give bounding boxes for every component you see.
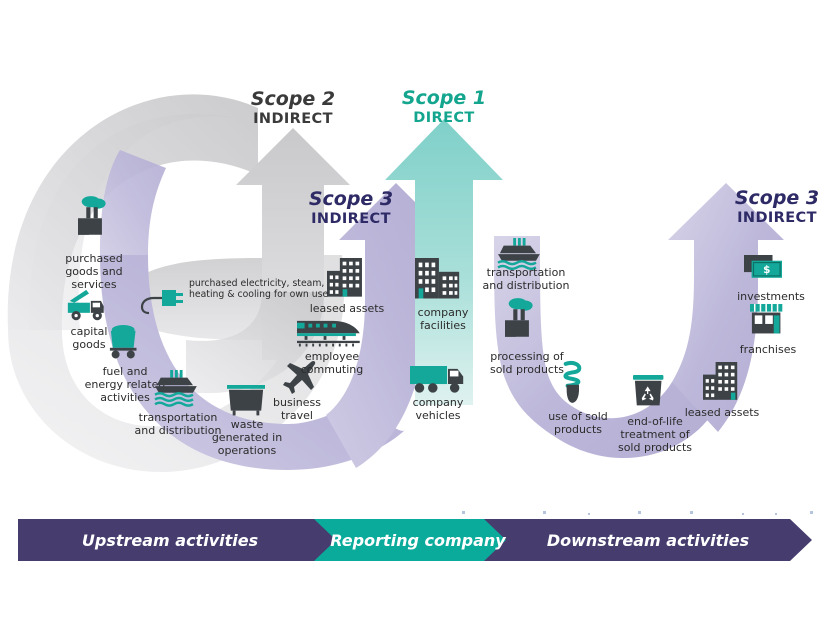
node-label: services bbox=[71, 278, 116, 291]
lightbulb-icon bbox=[565, 363, 579, 403]
node-label: company bbox=[413, 396, 464, 409]
node-label: processing of bbox=[490, 350, 565, 363]
value-chain-banner: Upstream activities Reporting company Do… bbox=[18, 519, 812, 561]
delivery-truck-icon bbox=[410, 366, 463, 393]
scope3-downstream-title-group: Scope 3 INDIRECT bbox=[735, 187, 819, 226]
node-label: purchased bbox=[65, 252, 122, 265]
node-label: business bbox=[273, 396, 321, 409]
node-label: leased assets bbox=[685, 406, 760, 419]
node-label: vehicles bbox=[416, 409, 461, 422]
node-label: fuel and bbox=[103, 365, 148, 378]
node-label: products bbox=[554, 423, 602, 436]
node-label: goods bbox=[72, 338, 105, 351]
node-label: generated in bbox=[212, 431, 282, 444]
node-label: transportation bbox=[487, 266, 566, 279]
node-label: purchased electricity, steam, bbox=[189, 278, 324, 289]
svg-text:$: $ bbox=[763, 264, 770, 276]
node-label: investments bbox=[737, 290, 805, 303]
scope3-upstream-subtitle: INDIRECT bbox=[311, 211, 391, 227]
scope3-downstream-subtitle: INDIRECT bbox=[737, 210, 817, 226]
scope1-title-group: Scope 1 DIRECT bbox=[402, 87, 486, 126]
node-label: transportation bbox=[139, 411, 218, 424]
node-label: employee bbox=[305, 350, 360, 363]
scope2-title-group: Scope 2 INDIRECT bbox=[251, 88, 335, 127]
scope1-title: Scope 1 bbox=[402, 87, 486, 109]
node-label: franchises bbox=[740, 343, 797, 356]
scope3-downstream-title: Scope 3 bbox=[735, 187, 819, 209]
banner-upstream-label: Upstream activities bbox=[82, 531, 258, 550]
recycle-bin-icon bbox=[633, 375, 663, 405]
dot-accents bbox=[462, 511, 813, 515]
node-label: heating & cooling for own use bbox=[189, 289, 329, 300]
node-label: treatment of bbox=[620, 428, 690, 441]
banner-downstream-label: Downstream activities bbox=[547, 531, 749, 550]
node-label: use of sold bbox=[548, 410, 608, 423]
node-label: travel bbox=[281, 409, 313, 422]
node-label: leased assets bbox=[310, 302, 385, 315]
node-label: and distribution bbox=[483, 279, 570, 292]
node-label: goods and bbox=[65, 265, 122, 278]
scope3-upstream-title: Scope 3 bbox=[309, 188, 393, 210]
scope2-subtitle: INDIRECT bbox=[253, 111, 333, 127]
node-label: operations bbox=[218, 444, 277, 457]
scope1-subtitle: DIRECT bbox=[413, 110, 474, 126]
node-label: capital bbox=[71, 325, 108, 338]
node-label: sold products bbox=[490, 363, 564, 376]
scope3-upstream-title-group: Scope 3 INDIRECT bbox=[309, 188, 393, 227]
node-label: facilities bbox=[420, 319, 466, 332]
train-icon bbox=[297, 321, 360, 347]
diagram-canvas: Scope 2 INDIRECT Scope 1 DIRECT Scope 3 … bbox=[0, 0, 826, 620]
storefront-icon bbox=[750, 304, 782, 333]
node-label: sold products bbox=[618, 441, 692, 454]
node-label: activities bbox=[100, 391, 150, 404]
banner-reporting-label: Reporting company bbox=[330, 531, 506, 550]
node-label: commuting bbox=[301, 363, 364, 376]
node-label: end-of-life bbox=[627, 415, 683, 428]
node-label: waste bbox=[231, 418, 264, 431]
scope2-title: Scope 2 bbox=[251, 88, 335, 110]
node-label: and distribution bbox=[135, 424, 222, 437]
node-label: energy related bbox=[85, 378, 166, 391]
ghg-scopes-diagram: Scope 2 INDIRECT Scope 1 DIRECT Scope 3 … bbox=[0, 0, 826, 620]
node-label: company bbox=[418, 306, 469, 319]
